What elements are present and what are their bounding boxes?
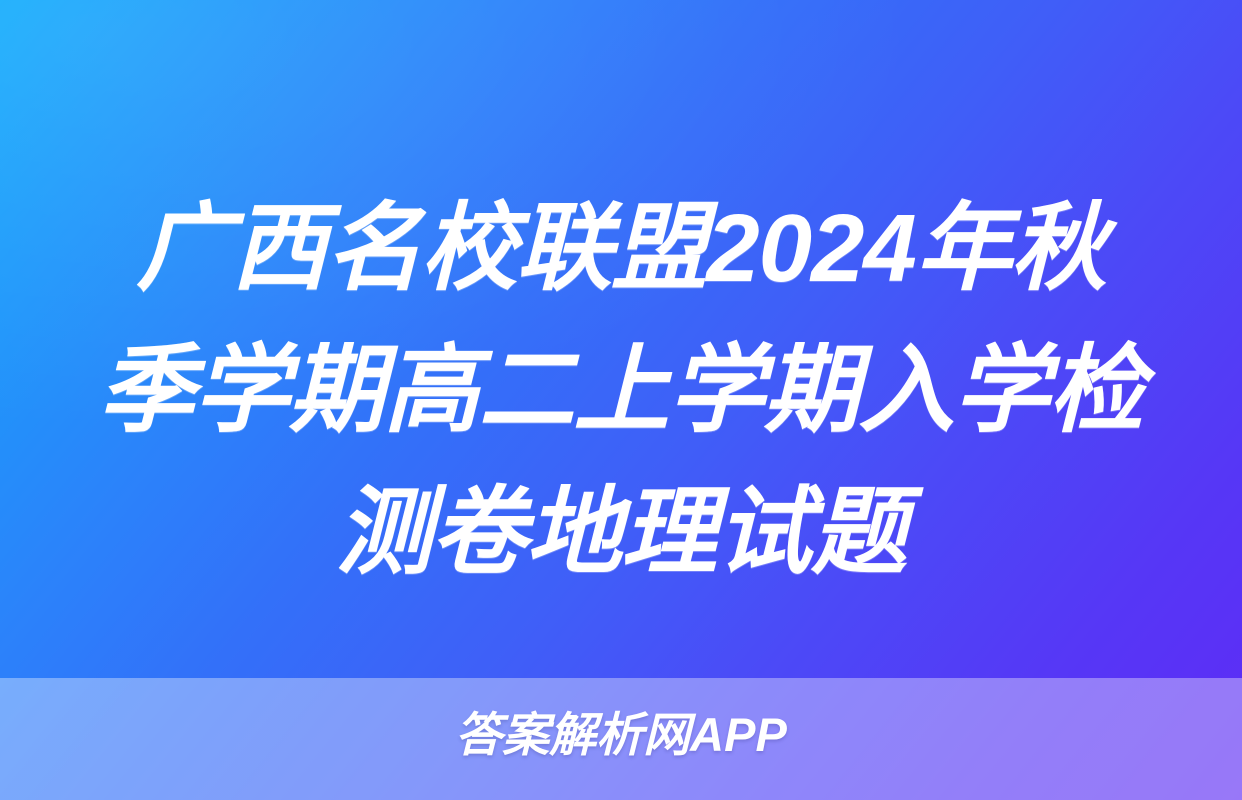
watermark: 答案解析网APP [0, 706, 1242, 764]
watermark-brand-label: 答案解析网APP [455, 706, 787, 764]
title-line-2: 季学期高二上学期入学检 [40, 320, 1202, 462]
title-line-1: 广西名校联盟2024年秋 [40, 178, 1202, 320]
page-title: 广西名校联盟2024年秋 季学期高二上学期入学检 测卷地理试题 [0, 178, 1242, 604]
exam-cover-poster: 广西名校联盟2024年秋 季学期高二上学期入学检 测卷地理试题 答案解析网APP [0, 0, 1242, 800]
title-line-3: 测卷地理试题 [40, 462, 1202, 604]
